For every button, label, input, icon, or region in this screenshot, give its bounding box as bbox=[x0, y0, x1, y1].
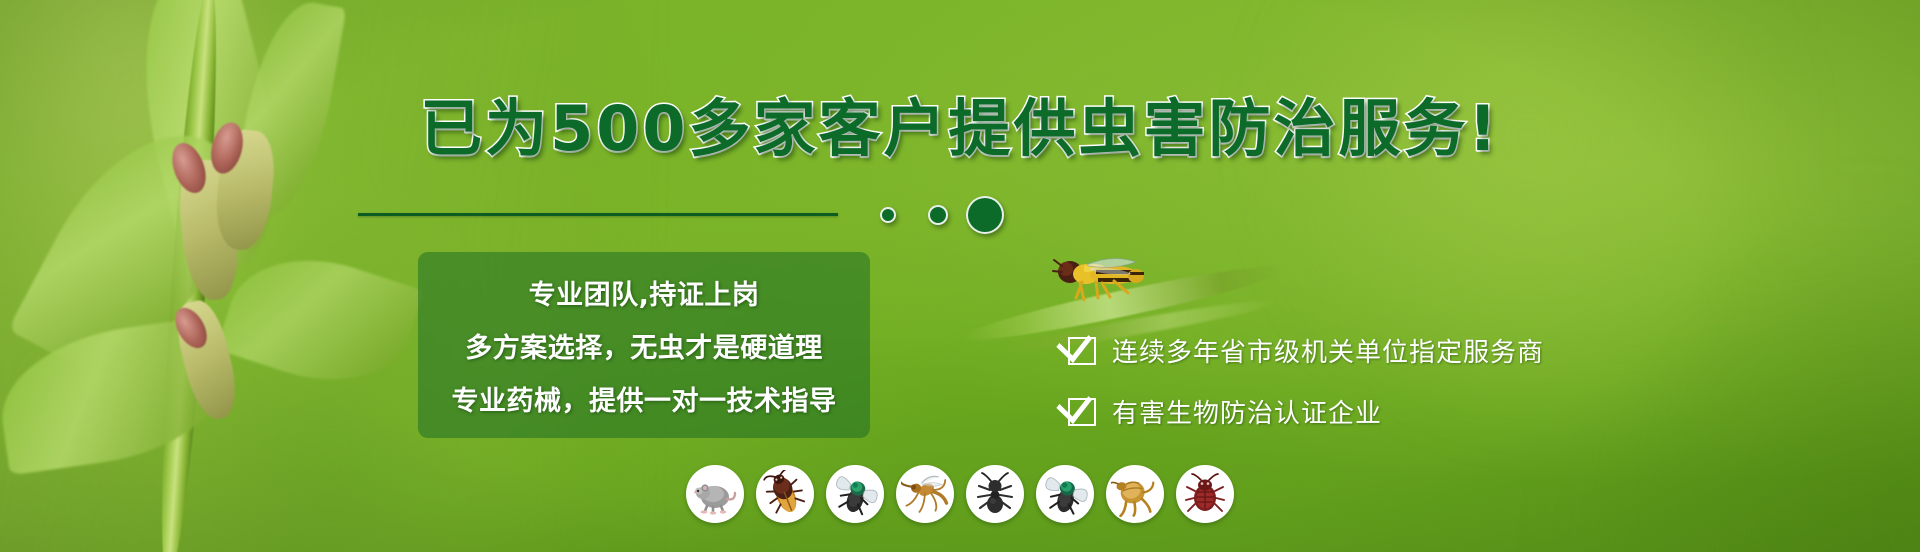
pest-icon-row bbox=[686, 465, 1234, 523]
checklist-item-label: 连续多年省市级机关单位指定服务商 bbox=[1112, 332, 1544, 369]
checklist-item: 有害生物防治认证企业 bbox=[1068, 393, 1544, 430]
bedbug-icon bbox=[1176, 465, 1234, 523]
panel-line-3: 专业药械，提供一对一技术指导 bbox=[452, 379, 837, 418]
flea-icon bbox=[1106, 465, 1164, 523]
features-panel-text: 专业团队,持证上岗 多方案选择，无虫才是硬道理 专业药械，提供一对一技术指导 bbox=[418, 252, 870, 438]
fly-icon bbox=[826, 465, 884, 523]
ant-icon bbox=[966, 465, 1024, 523]
banner-headline: 已为500多家客户提供虫害防治服务! bbox=[0, 78, 1920, 168]
dot-large bbox=[966, 196, 1004, 234]
panel-line-2: 多方案选择，无虫才是硬道理 bbox=[465, 326, 823, 365]
promo-banner: 已为500多家客户提供虫害防治服务! 专业团队,持证上岗 多方案选择， bbox=[0, 0, 1920, 552]
checkbox-checked-icon bbox=[1068, 337, 1096, 365]
mosquito-icon bbox=[896, 465, 954, 523]
panel-line-1: 专业团队,持证上岗 bbox=[529, 273, 760, 312]
checklist-item-label: 有害生物防治认证企业 bbox=[1112, 393, 1382, 430]
checklist-item: 连续多年省市级机关单位指定服务商 bbox=[1068, 332, 1544, 369]
certification-checklist: 连续多年省市级机关单位指定服务商 有害生物防治认证企业 bbox=[1068, 332, 1544, 430]
hoverfly-icon bbox=[1040, 250, 1160, 310]
dot-small-b bbox=[928, 205, 948, 225]
housefly-icon bbox=[1036, 465, 1094, 523]
bud-cluster-group bbox=[178, 130, 358, 430]
cockroach-icon bbox=[756, 465, 814, 523]
rat-icon bbox=[686, 465, 744, 523]
dot-small-a bbox=[880, 207, 896, 223]
checkbox-checked-icon bbox=[1068, 398, 1096, 426]
divider-rule bbox=[358, 213, 838, 216]
